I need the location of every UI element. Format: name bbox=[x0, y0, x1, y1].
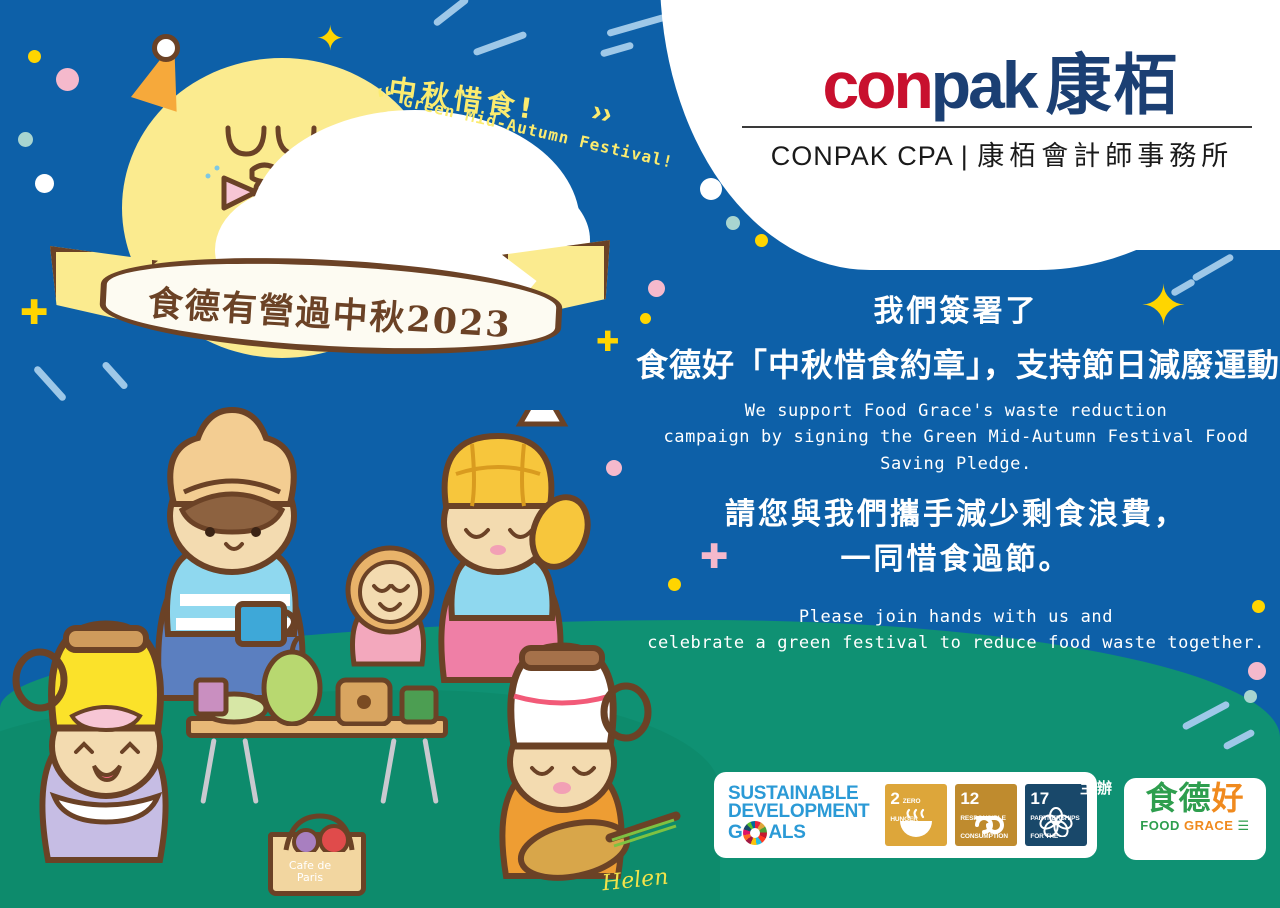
logo-word-cn: 康栢 bbox=[1046, 46, 1182, 124]
basket-label: Cafe de Paris bbox=[280, 860, 340, 884]
table-leg-3 bbox=[380, 738, 396, 804]
fg-char-1: 食 bbox=[1145, 779, 1178, 817]
pledge-message-block-1: 我們簽署了 食德好「中秋惜食約章」，支持節日減廢運動！ We support F… bbox=[636, 286, 1276, 477]
confetti-dot-yellow-2 bbox=[755, 234, 768, 247]
logo-word-pak: pak bbox=[931, 48, 1036, 122]
sdg-goals-rest: ALS bbox=[768, 824, 805, 842]
circles-icon bbox=[1025, 807, 1087, 842]
fg-char-3: 好 bbox=[1212, 779, 1245, 817]
logo-subtitle-en: CONPAK CPA bbox=[771, 141, 953, 171]
sdg-badge-bar: SUSTAINABLE DEVELOPMENT G ALS 2 ZEROHUNG… bbox=[714, 772, 1097, 858]
message-en-line2: campaign by signing the Green Mid-Autumn… bbox=[636, 424, 1276, 477]
message-line1-cn: 我們簽署了 bbox=[636, 286, 1276, 330]
message-en-line3: Please join hands with us and bbox=[636, 604, 1276, 630]
table-leg-2 bbox=[242, 738, 258, 804]
confetti-dot-teal-2 bbox=[726, 216, 740, 230]
mid-autumn-illustration: 食德有營過中秋2023 ‘‘ 中秋惜食! ›› Green Mid-Autumn… bbox=[0, 0, 660, 908]
festival-banner: 食德有營過中秋2023 bbox=[40, 246, 600, 356]
fg-chopsticks-icon: ☰ bbox=[1238, 818, 1250, 833]
fg-char-2: 德 bbox=[1178, 779, 1211, 817]
quote-close-mark: ›› bbox=[588, 94, 616, 132]
infinity-icon bbox=[955, 813, 1017, 842]
logo-subtitle-cn: 康栢會計師事務所 bbox=[977, 141, 1233, 172]
logo-divider-rule bbox=[742, 126, 1252, 128]
conpak-wordmark: conpak康栢 bbox=[742, 52, 1262, 118]
message-en-line4: celebrate a green festival to reduce foo… bbox=[636, 630, 1276, 656]
food-grace-logo-cn: 食德好 bbox=[1124, 782, 1266, 814]
sdg-goal-12: 12 RESPONSIBLECONSUMPTIONAND PRODUCTION bbox=[955, 784, 1017, 846]
pledge-message-block-2: 請您與我們攜手減少剩食浪費， 一同惜食過節。 Please join hands… bbox=[636, 492, 1276, 657]
sdg-word-goals: G ALS bbox=[728, 821, 869, 845]
confetti-dot-pink-3 bbox=[1248, 662, 1266, 680]
sdg-wordmark: SUSTAINABLE DEVELOPMENT G ALS bbox=[724, 785, 877, 845]
fg-en-grace: GRACE bbox=[1184, 818, 1233, 833]
message-en-2: Please join hands with us and celebrate … bbox=[636, 604, 1276, 657]
basket-contents-icon bbox=[272, 812, 366, 852]
sdg-goal-2: 2 ZEROHUNGER bbox=[885, 784, 947, 846]
message-line2-cn: 食德好「中秋惜食約章」，支持節日減廢運動！ bbox=[636, 340, 1276, 386]
logo-word-con: con bbox=[822, 48, 930, 122]
table-food-group bbox=[180, 636, 470, 726]
sdg-color-wheel-icon bbox=[743, 821, 767, 845]
sdg-goal-2-number: 2 bbox=[890, 790, 899, 807]
conpak-logo[interactable]: conpak康栢 CONPAK CPA | 康栢會計師事務所 bbox=[742, 52, 1262, 173]
food-grace-logo-en: FOOD GRACE ☰ bbox=[1124, 818, 1266, 834]
table-leg-4 bbox=[422, 738, 438, 804]
message-en-line1: We support Food Grace's waste reduction bbox=[636, 398, 1276, 424]
organizer-label: 主辦 bbox=[1080, 777, 1114, 798]
message-line4-cn: 一同惜食過節。 bbox=[636, 537, 1276, 582]
sdg-goal-17-number: 17 bbox=[1030, 790, 1049, 807]
bowl-icon bbox=[885, 807, 947, 842]
sdg-goal-17: 17 PARTNERSHIPSFOR THE GOALS bbox=[1025, 784, 1087, 846]
logo-subtitle-divider: | bbox=[961, 141, 969, 171]
food-grace-logo[interactable]: 食德好 FOOD GRACE ☰ bbox=[1124, 778, 1266, 860]
confetti-dot-teal-3 bbox=[1244, 690, 1257, 703]
message-en-1: We support Food Grace's waste reduction … bbox=[636, 398, 1276, 477]
party-hat-pompom bbox=[152, 34, 180, 62]
logo-subtitle: CONPAK CPA | 康栢會計師事務所 bbox=[742, 134, 1262, 173]
message-line3-cn: 請您與我們攜手減少剩食浪費， bbox=[636, 492, 1276, 537]
sdg-word-line2: DEVELOPMENT bbox=[728, 803, 869, 821]
sdg-goal-12-number: 12 bbox=[960, 790, 979, 807]
poster-canvas: ✚ ✚ ✚ ✦ ✦ bbox=[0, 0, 1280, 908]
fg-en-food: FOOD bbox=[1140, 818, 1180, 833]
sdg-goals-g: G bbox=[728, 824, 742, 842]
